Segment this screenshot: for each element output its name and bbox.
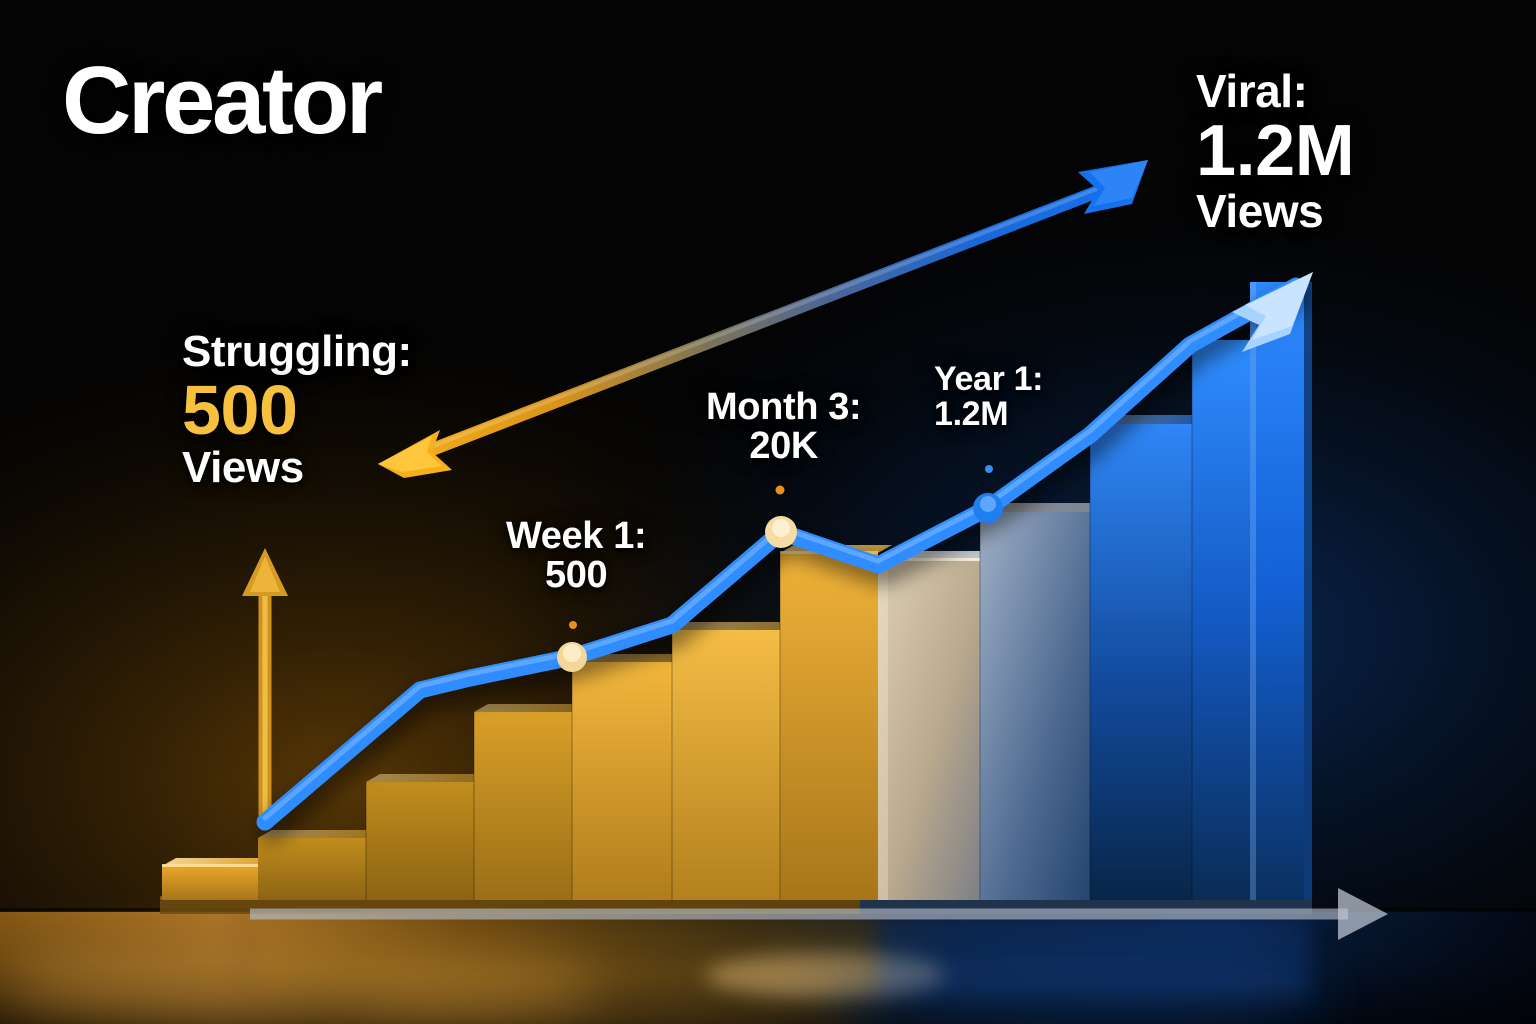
annotation-viral-caption: Viral: bbox=[1196, 65, 1307, 117]
chart-canvas: Creator Struggling: 500 Views Viral: 1.2… bbox=[0, 0, 1536, 1024]
bar-edge-highlight bbox=[878, 560, 888, 900]
annotation-struggling: Struggling: 500 Views bbox=[182, 330, 412, 491]
bar-3 bbox=[474, 704, 586, 900]
reflection-blue bbox=[878, 916, 1310, 996]
annotation-week1-value: 500 bbox=[506, 556, 646, 595]
annotation-dot-month3 bbox=[776, 486, 785, 495]
annotation-struggling-caption: Struggling: bbox=[182, 327, 412, 376]
bar-0 bbox=[162, 858, 272, 900]
bar-9 bbox=[1090, 415, 1206, 900]
annotation-dot-year1 bbox=[985, 465, 993, 473]
annotation-month3-value: 20K bbox=[706, 427, 861, 466]
bar-6 bbox=[780, 545, 892, 900]
bar-4 bbox=[572, 654, 686, 900]
bar-1 bbox=[258, 830, 380, 900]
annotation-viral-unit: Views bbox=[1196, 187, 1354, 235]
reflection-amber bbox=[258, 916, 878, 986]
annotation-dot-week1 bbox=[569, 621, 577, 629]
bar-edge-highlight-blue bbox=[1250, 282, 1256, 900]
bar-10 bbox=[1192, 340, 1250, 900]
bar-11 bbox=[1250, 282, 1312, 900]
bar-8 bbox=[980, 503, 1104, 900]
floor bbox=[0, 908, 1536, 1024]
annotation-struggling-unit: Views bbox=[182, 445, 412, 491]
bar-5 bbox=[672, 622, 794, 900]
annotation-year1-caption: Year 1: bbox=[934, 360, 1043, 398]
annotation-viral-value: 1.2M bbox=[1196, 115, 1354, 187]
annotation-struggling-value: 500 bbox=[182, 375, 412, 445]
annotation-month3-caption: Month 3: bbox=[706, 386, 861, 428]
annotation-month3: Month 3: 20K bbox=[706, 388, 861, 466]
annotation-week1: Week 1: 500 bbox=[506, 517, 646, 595]
annotation-year1: Year 1: 1.2M bbox=[934, 362, 1043, 431]
annotation-viral: Viral: 1.2M Views bbox=[1196, 68, 1354, 235]
bar-2 bbox=[366, 774, 488, 900]
annotation-year1-value: 1.2M bbox=[934, 397, 1043, 432]
bar-7 bbox=[878, 551, 994, 900]
page-title: Creator bbox=[62, 52, 380, 150]
annotation-week1-caption: Week 1: bbox=[506, 515, 646, 557]
